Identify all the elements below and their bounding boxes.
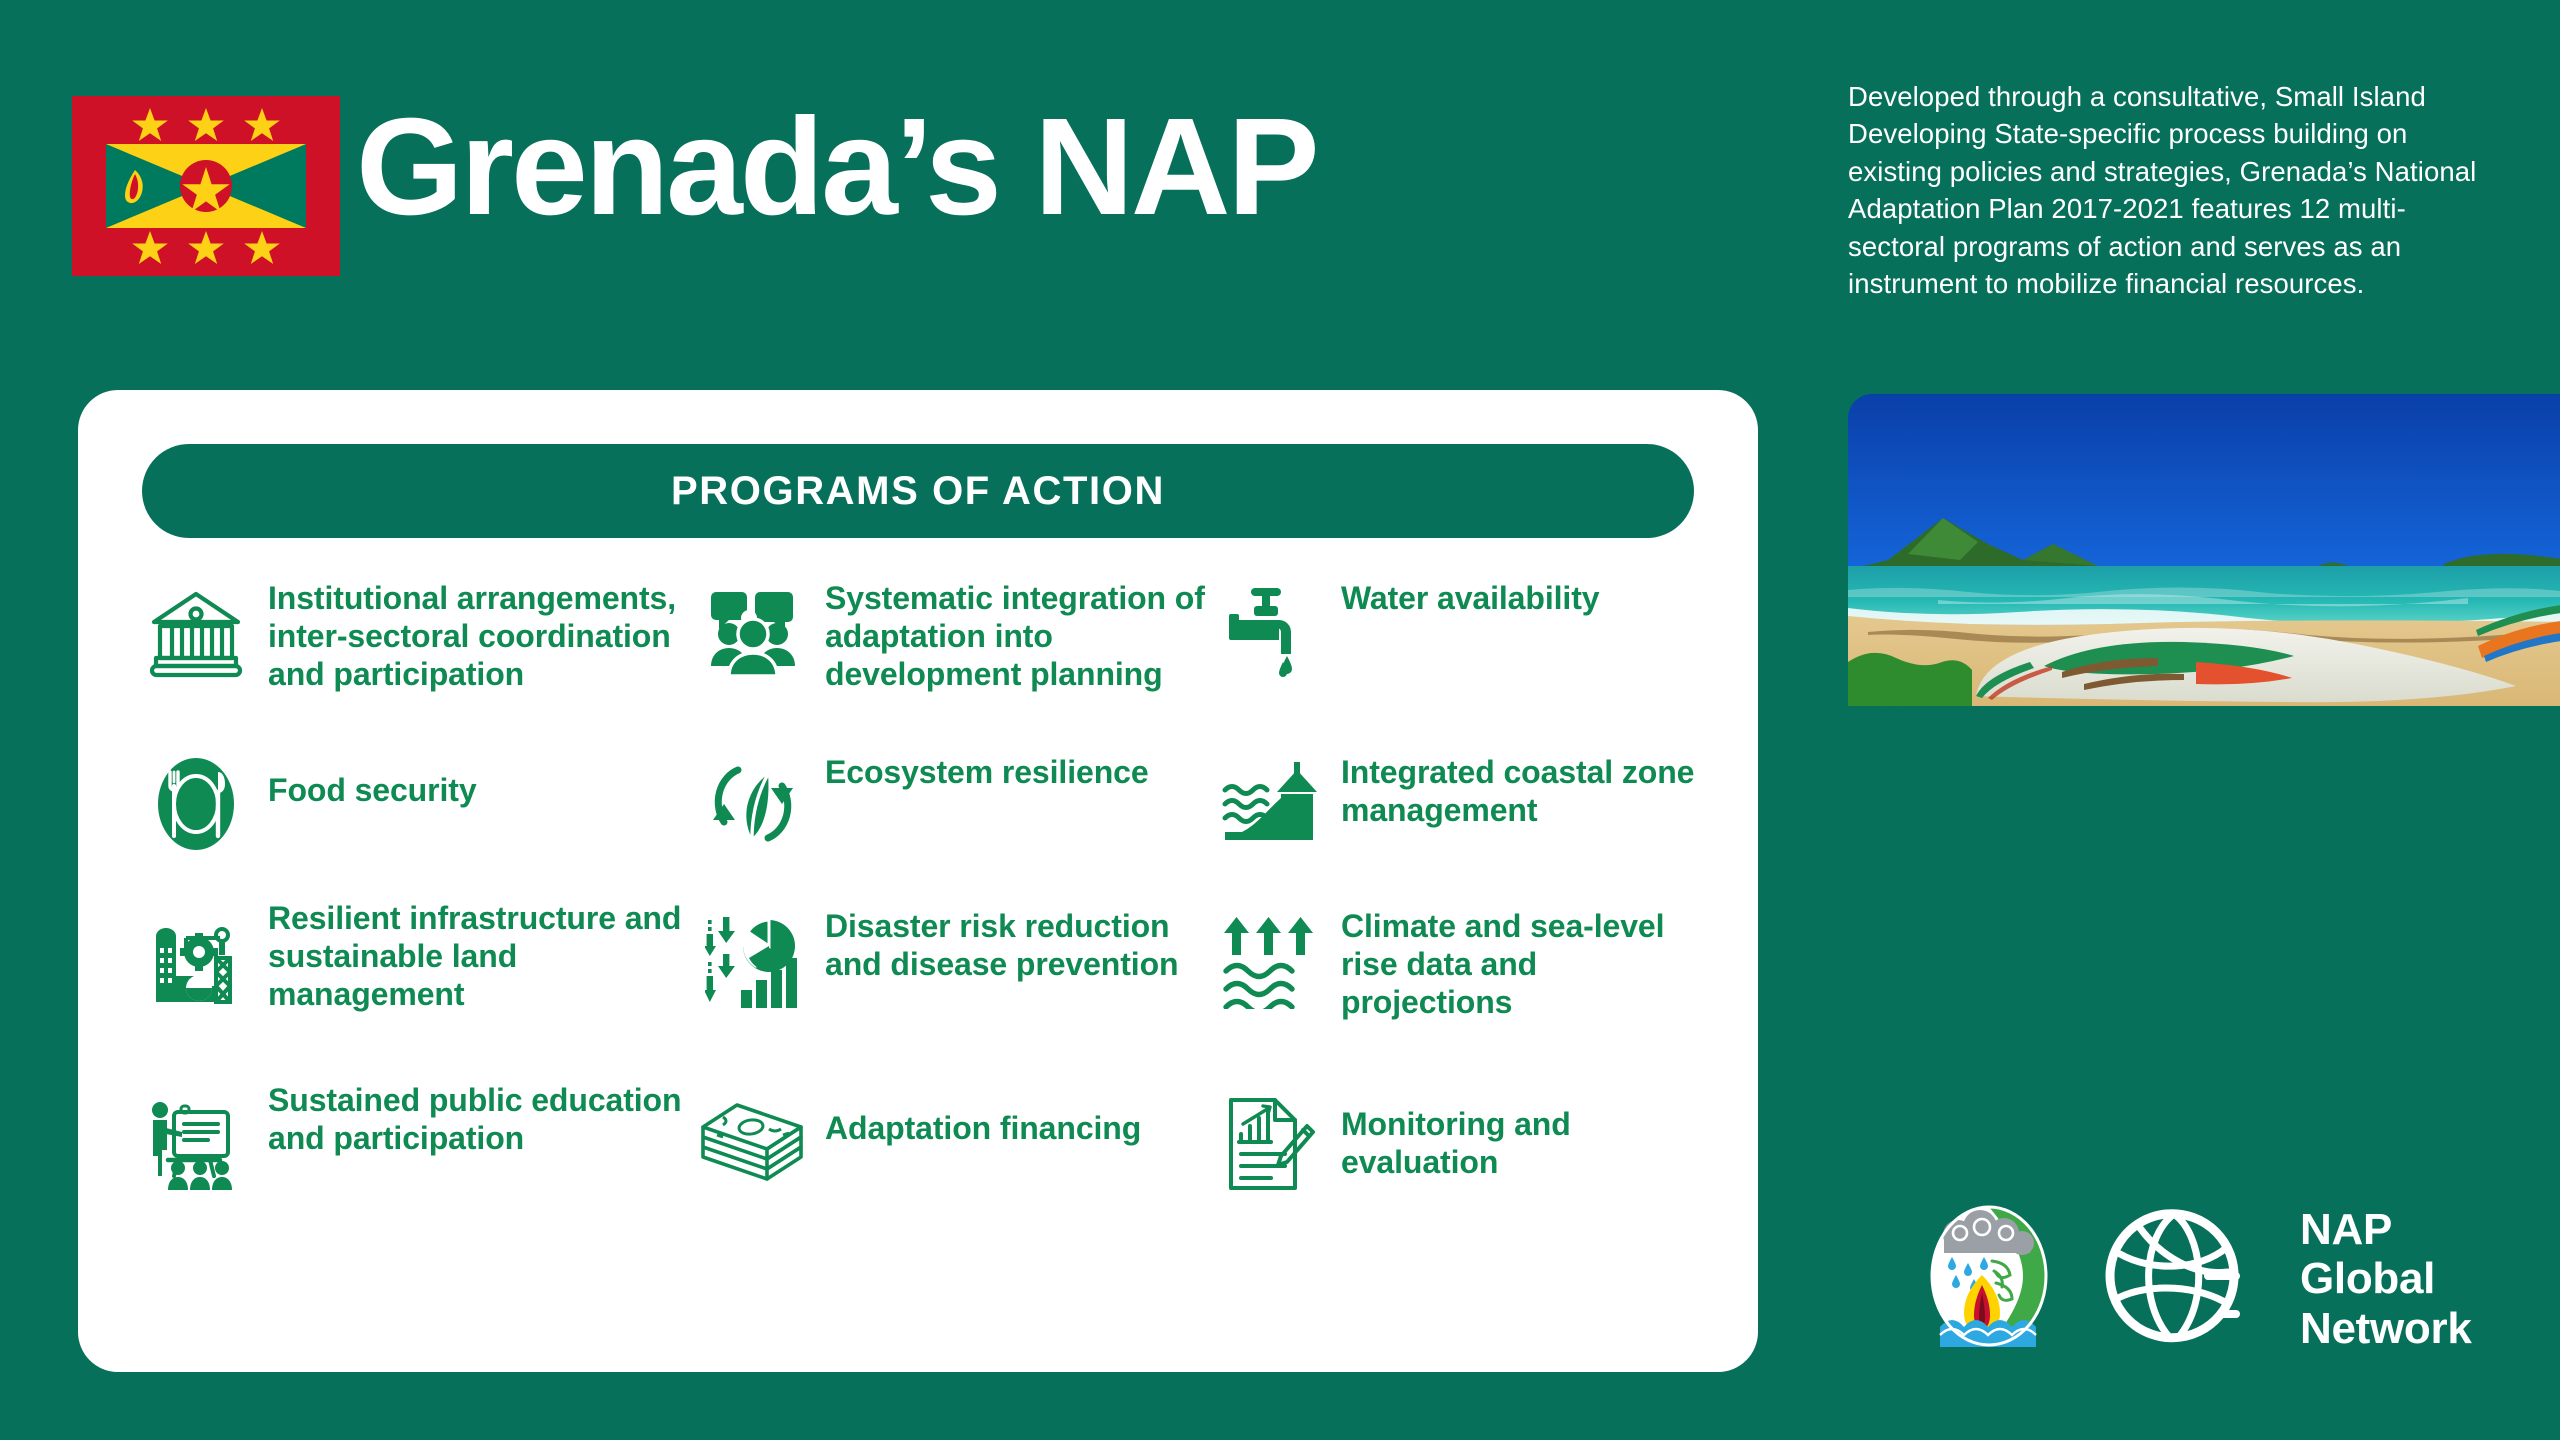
wordmark-line-3: Network	[2300, 1304, 2472, 1353]
program-item[interactable]: Adaptation financing	[693, 1082, 1209, 1258]
programs-of-action-banner: PROGRAMS OF ACTION	[142, 444, 1694, 538]
nap-globe-icon	[2104, 1206, 2244, 1351]
wordmark-line-2: Global	[2300, 1254, 2435, 1303]
bank-building-icon	[142, 578, 250, 690]
pie-bar-chart-arrows-icon	[699, 906, 807, 1018]
beach-with-fishing-boats-photo	[1848, 394, 2560, 706]
programs-grid: Institutional arrangements, inter-sector…	[142, 576, 1698, 1336]
program-label: Ecosystem resilience	[825, 748, 1149, 792]
banner-label: PROGRAMS OF ACTION	[671, 469, 1165, 514]
program-item[interactable]: Water availability	[1209, 576, 1698, 748]
coastal-waves-hill-icon	[1215, 748, 1323, 860]
program-item[interactable]: Resilient infrastructure and sustainable…	[142, 900, 693, 1082]
water-tap-drop-icon	[1215, 578, 1323, 690]
program-label: Monitoring and evaluation	[1341, 1082, 1698, 1182]
program-label: Adaptation financing	[825, 1082, 1141, 1148]
nap-global-network-wordmark: NAP Global Network	[2300, 1205, 2472, 1353]
plate-fork-knife-icon	[142, 748, 250, 860]
program-label: Climate and sea-level rise data and proj…	[1341, 900, 1698, 1021]
document-chart-pencil-icon	[1215, 1088, 1323, 1200]
program-label: Systematic integration of adaptation int…	[825, 576, 1209, 693]
program-label: Food security	[268, 748, 477, 810]
program-label: Disaster risk reduction and disease prev…	[825, 900, 1209, 984]
program-label: Water availability	[1341, 576, 1599, 618]
arrows-up-waves-icon	[1215, 906, 1323, 1018]
money-stack-icon	[699, 1088, 807, 1200]
program-item[interactable]: Institutional arrangements, inter-sector…	[142, 576, 693, 748]
program-item[interactable]: Systematic integration of adaptation int…	[693, 576, 1209, 748]
intro-paragraph: Developed through a consultative, Small …	[1848, 78, 2496, 302]
factory-gear-crane-icon	[142, 906, 250, 1018]
program-label: Sustained public education and participa…	[268, 1082, 693, 1158]
program-item[interactable]: Integrated coastal zone management	[1209, 748, 1698, 900]
programs-card: PROGRAMS OF ACTION Institutional arrange…	[78, 390, 1758, 1372]
program-item[interactable]: Monitoring and evaluation	[1209, 1082, 1698, 1258]
footer-logos: NAP Global Network	[1930, 1205, 2472, 1353]
page-title: Grenada’s NAP	[356, 98, 1317, 236]
program-item[interactable]: Disaster risk reduction and disease prev…	[693, 900, 1209, 1082]
infographic-root: Grenada’s NAP Developed through a consul…	[0, 0, 2560, 1440]
wordmark-line-1: NAP	[2300, 1205, 2392, 1254]
leaf-recycle-cycle-icon	[699, 748, 807, 860]
program-label: Institutional arrangements, inter-sector…	[268, 576, 693, 693]
grenada-ministry-climate-logo	[1930, 1205, 2048, 1352]
program-item[interactable]: Climate and sea-level rise data and proj…	[1209, 900, 1698, 1082]
people-speech-bubbles-icon	[699, 578, 807, 690]
program-item[interactable]: Ecosystem resilience	[693, 748, 1209, 900]
program-label: Resilient infrastructure and sustainable…	[268, 900, 693, 1013]
program-item[interactable]: Food security	[142, 748, 693, 900]
teacher-whiteboard-icon	[142, 1088, 250, 1200]
grenada-flag-icon	[72, 96, 340, 276]
program-label: Integrated coastal zone management	[1341, 748, 1698, 830]
program-item[interactable]: Sustained public education and participa…	[142, 1082, 693, 1258]
